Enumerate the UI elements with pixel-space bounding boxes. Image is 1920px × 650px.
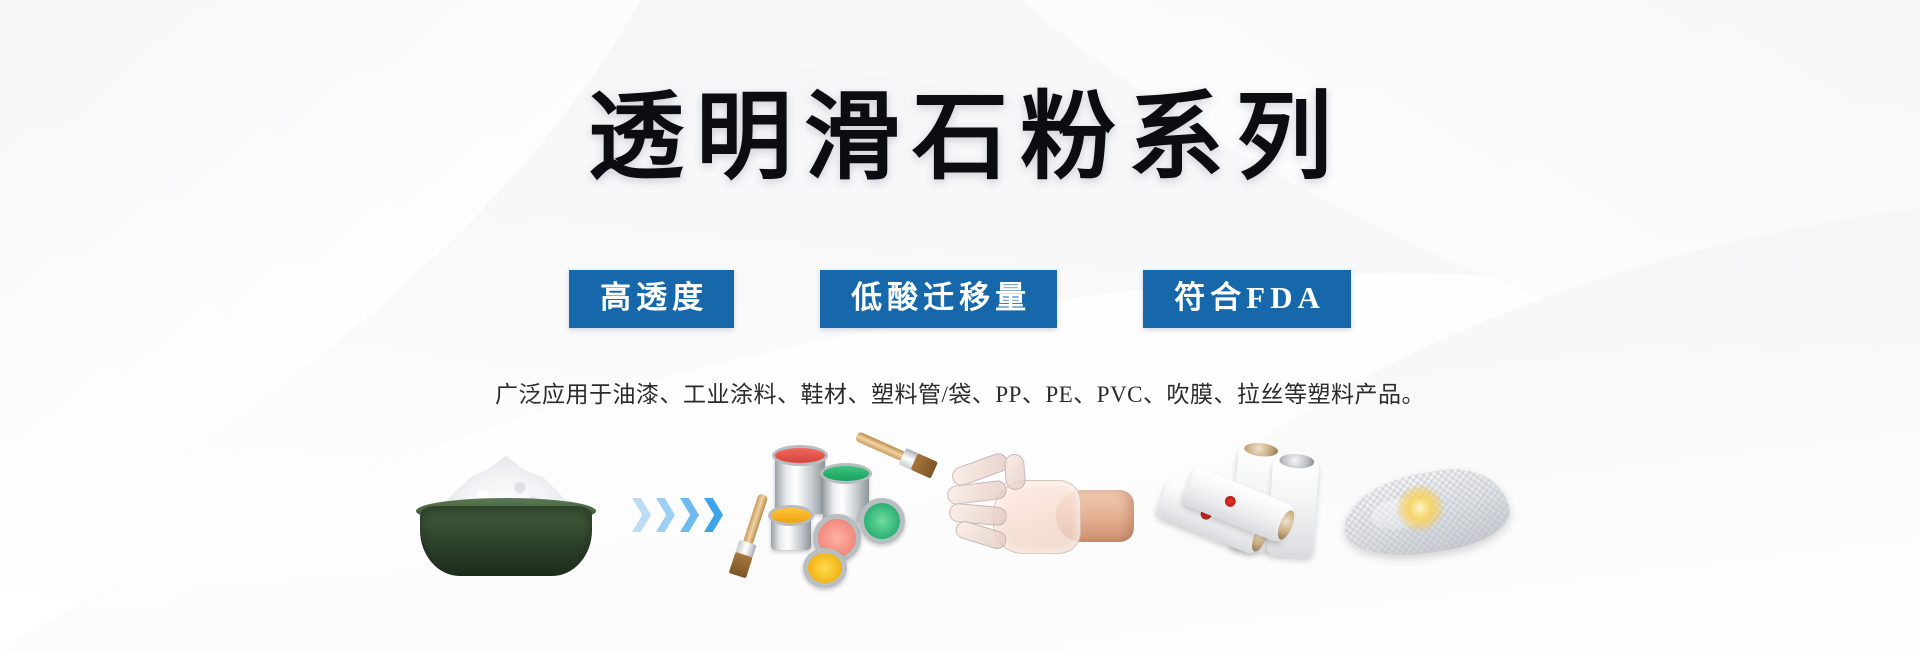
plastic-film-rolls-image (1144, 440, 1329, 590)
glove-thumb (1004, 453, 1026, 490)
product-banner: 透明滑石粉系列 高透度 低酸迁移量 符合FDA 广泛应用于油漆、工业涂料、鞋材、… (0, 0, 1920, 650)
feature-badge-list: 高透度 低酸迁移量 符合FDA (0, 270, 1920, 328)
chevron-right-icon-4 (704, 498, 723, 532)
chevron-right-icon-1 (632, 498, 651, 532)
chevron-right-icon-3 (680, 498, 699, 532)
feature-badge-fda-compliant[interactable]: 符合FDA (1143, 270, 1351, 328)
shoe-sole-icon (1339, 455, 1514, 575)
paint-disc-yellow (803, 548, 847, 588)
chevron-right-icon-2 (656, 498, 675, 532)
talc-bowl-icon (406, 450, 606, 580)
sole-glow-highlight (1397, 485, 1443, 531)
bowl-body (420, 506, 592, 576)
film-rolls-icon (1144, 445, 1329, 585)
chevron-right-arrows-icon (632, 498, 723, 532)
feature-badge-low-acid-migration[interactable]: 低酸迁移量 (820, 270, 1057, 328)
application-image-strip (0, 430, 1920, 600)
plastic-gloves-image (949, 440, 1134, 590)
shoe-sole-image (1339, 440, 1514, 590)
paint-cans-image (749, 440, 939, 590)
banner-title: 透明滑石粉系列 (0, 90, 1920, 186)
paint-cans-icon (749, 440, 939, 590)
paint-can-orange (771, 512, 811, 550)
banner-content: 透明滑石粉系列 高透度 低酸迁移量 符合FDA 广泛应用于油漆、工业涂料、鞋材、… (0, 0, 1920, 650)
paint-disc-green (859, 498, 905, 544)
plastic-glove-icon (949, 450, 1134, 580)
banner-subtitle: 广泛应用于油漆、工业涂料、鞋材、塑料管/袋、PP、PE、PVC、吹膜、拉丝等塑料… (0, 375, 1920, 409)
talc-powder-bowl-image (406, 440, 606, 590)
feature-badge-high-transparency[interactable]: 高透度 (569, 270, 734, 328)
